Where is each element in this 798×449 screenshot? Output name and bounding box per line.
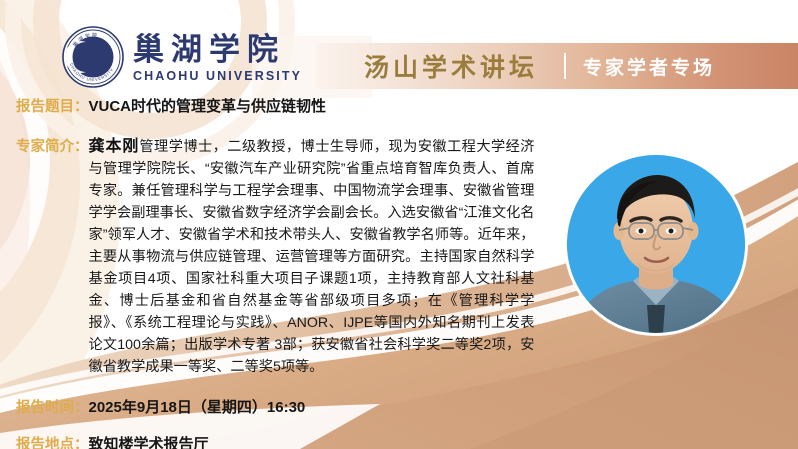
report-place-value: 致知楼学术报告厅 [89,433,209,449]
banner-main-title: 汤山学术讲坛 [364,48,538,84]
report-time-row: 报告时间： 2025年9月18日（星期四）16:30 [0,396,798,417]
speaker-portrait-photo [567,155,745,333]
report-title-label: 报告题目： [16,95,89,116]
lecture-series-banner: 汤山学术讲坛 专家学者专场 [316,43,798,89]
university-name-en: CHAOHU UNIVERSITY [133,69,302,83]
speaker-intro-text: 管理学博士，二级教授，博士生导师，现为安徽工程大学经济与管理学院院长、“安徽汽车… [89,139,535,375]
report-time-value: 2025年9月18日（星期四）16:30 [89,396,306,417]
report-title-value: VUCA时代的管理变革与供应链韧性 [89,95,327,116]
university-name-block: 巢湖学院 CHAOHU UNIVERSITY [133,33,302,82]
university-logo-block: 巢湖学院 CHAOHU UNIVERSITY 巢湖学院 CHAOHU UNIVE… [62,26,302,88]
university-name-cn: 巢湖学院 [133,33,285,66]
report-place-row: 报告地点： 致知楼学术报告厅 [0,433,798,449]
speaker-intro-body: 龚本刚管理学博士，二级教授，博士生导师，现为安徽工程大学经济与管理学院院长、“安… [89,136,535,378]
chaohu-university-seal-icon: 巢湖学院 CHAOHU UNIVERSITY [62,26,124,88]
event-meta-block: 报告时间： 2025年9月18日（星期四）16:30 报告地点： 致知楼学术报告… [0,396,798,449]
report-place-label: 报告地点： [16,433,89,449]
poster-canvas: 巢湖学院 CHAOHU UNIVERSITY 巢湖学院 CHAOHU UNIVE… [0,0,798,449]
banner-separator [564,53,566,79]
speaker-intro-label: 专家简介： [16,136,89,158]
report-title-row: 报告题目： VUCA时代的管理变革与供应链韧性 [0,95,798,116]
speaker-name: 龚本刚 [89,138,140,155]
banner-subtitle: 专家学者专场 [583,53,715,80]
report-time-label: 报告时间： [16,396,89,417]
